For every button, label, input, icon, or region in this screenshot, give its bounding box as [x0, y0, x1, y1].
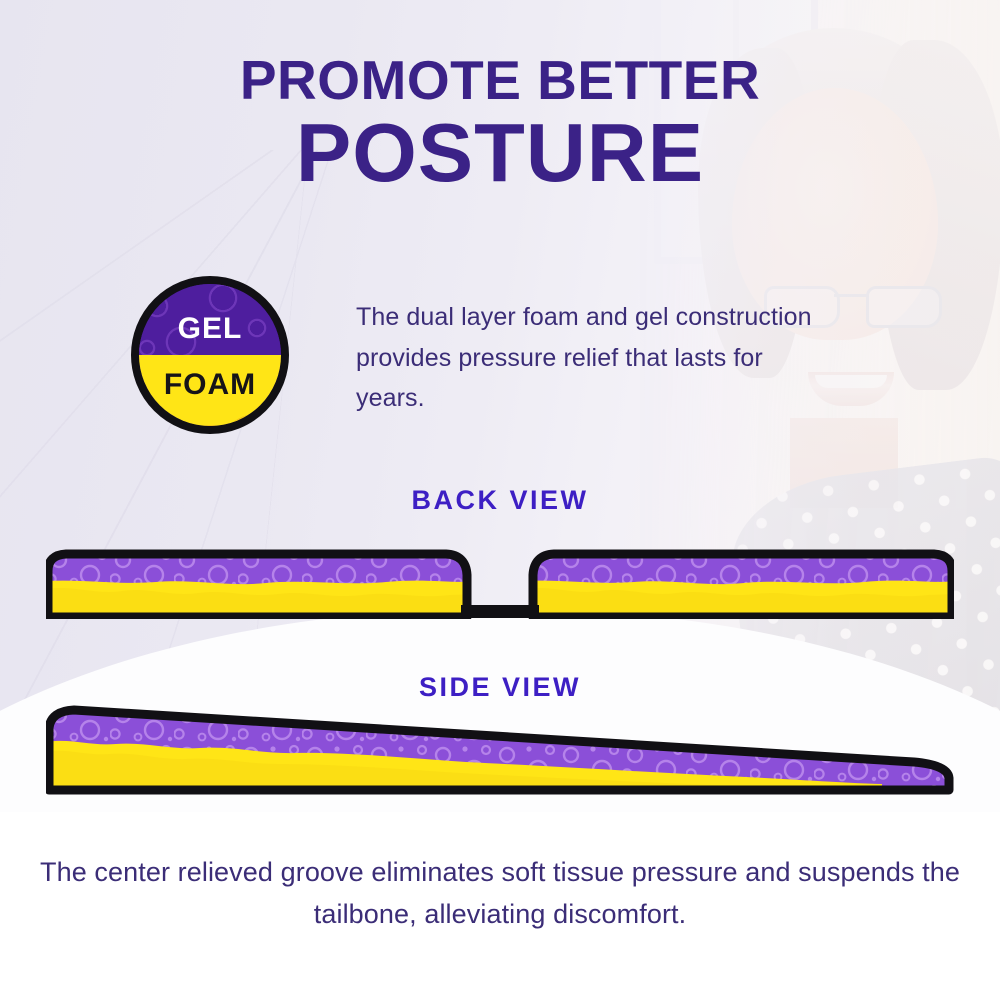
back-view-svg	[46, 549, 954, 619]
back-view-diagram	[46, 549, 954, 619]
badge-gel-label: GEL	[139, 312, 281, 346]
side-view-diagram	[46, 704, 954, 796]
bottom-caption: The center relieved groove eliminates so…	[0, 852, 1000, 936]
headline-line-2: POSTURE	[0, 110, 1000, 196]
headline-line-1: PROMOTE BETTER	[0, 52, 1000, 108]
back-left-cushion-fill	[46, 549, 476, 619]
back-right-cushion-fill	[524, 549, 954, 619]
center-groove-bridge	[461, 605, 539, 618]
intro-paragraph: The dual layer foam and gel construction…	[356, 297, 826, 419]
back-view-label: BACK VIEW	[0, 485, 1000, 516]
page-title: PROMOTE BETTER POSTURE	[0, 52, 1000, 196]
side-view-svg	[46, 704, 954, 796]
side-view-label: SIDE VIEW	[0, 672, 1000, 703]
infographic-poster: PROMOTE BETTER POSTURE GEL FOAM The dual…	[0, 0, 1000, 1000]
badge-foam-label: FOAM	[139, 368, 281, 402]
gel-foam-badge: GEL FOAM	[131, 276, 289, 434]
